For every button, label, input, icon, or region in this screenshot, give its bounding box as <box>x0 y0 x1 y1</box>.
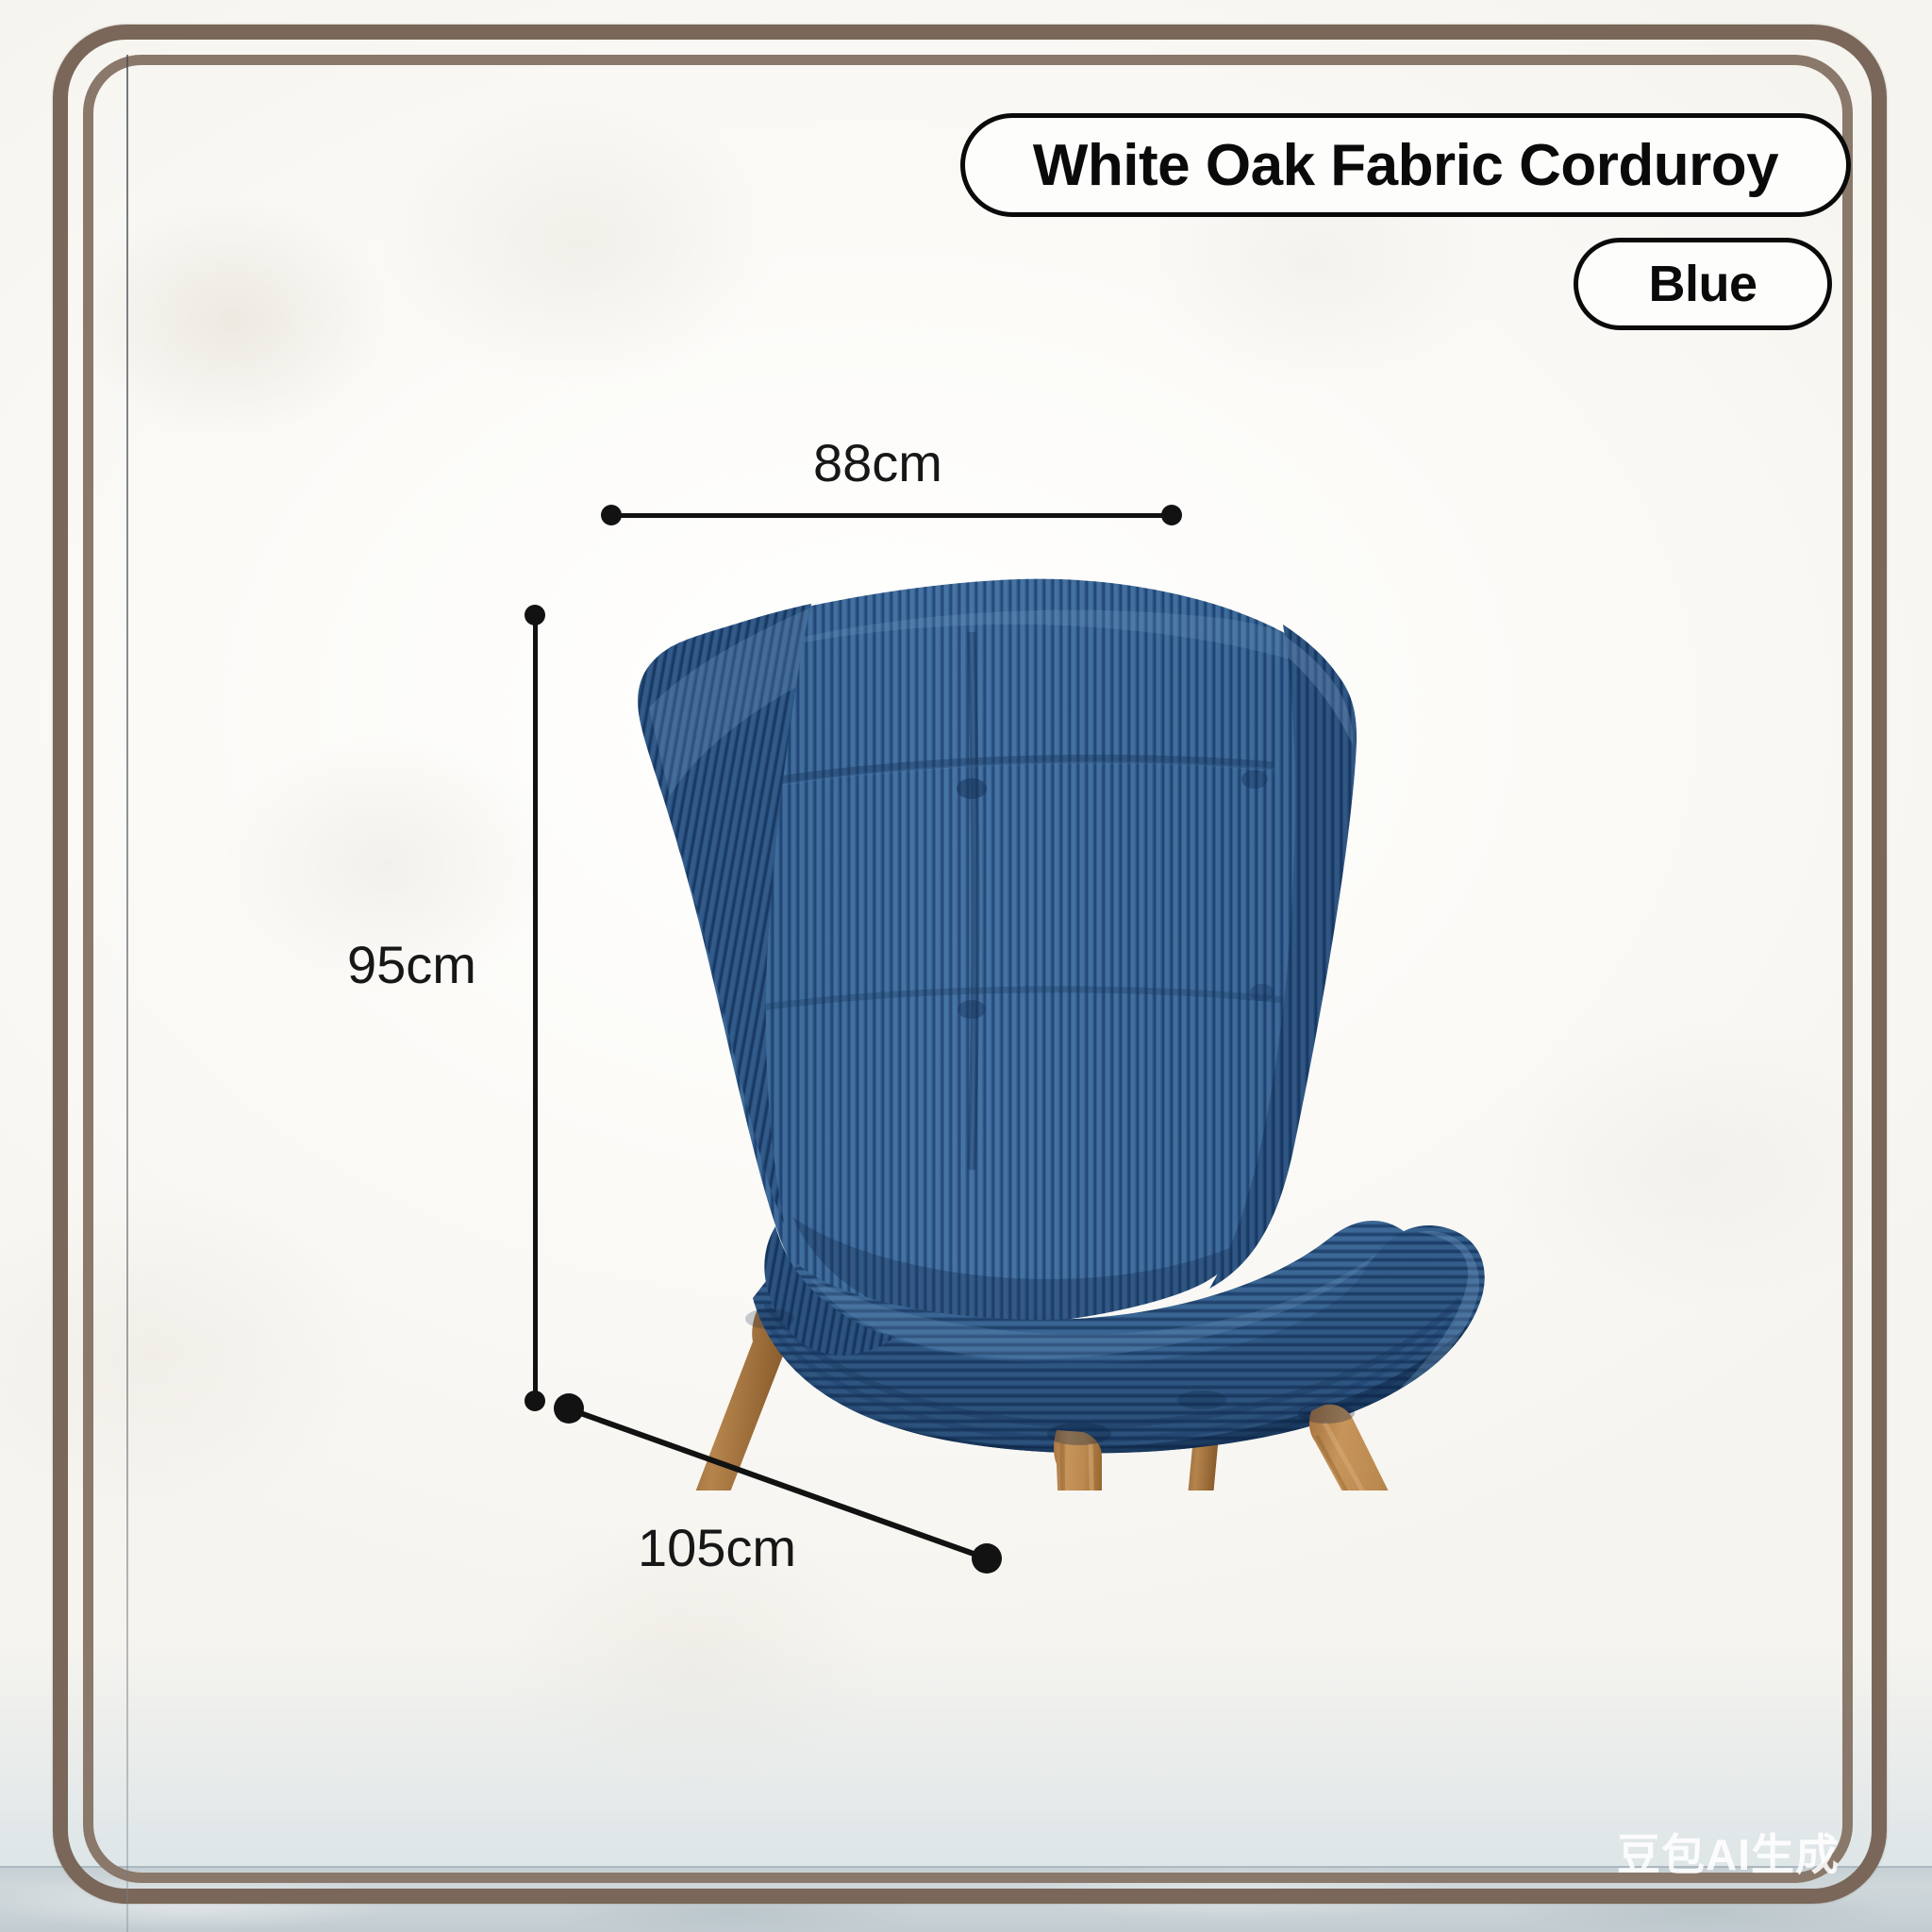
frame-panel-seam <box>126 55 128 1932</box>
dimension-endpoint-width-left <box>601 505 622 525</box>
dimension-endpoint-height-bottom <box>525 1391 545 1411</box>
product-chair-image <box>528 566 1585 1491</box>
dimension-label-height: 95cm <box>347 934 476 995</box>
dimension-label-depth: 105cm <box>638 1517 796 1578</box>
dimension-label-width: 88cm <box>813 432 942 493</box>
dimension-endpoint-height-top <box>525 605 545 625</box>
color-variant-badge: Blue <box>1574 238 1832 330</box>
dimension-line-width <box>611 513 1172 518</box>
dimension-line-height <box>533 615 538 1400</box>
chair-illustration <box>528 566 1585 1491</box>
dimension-endpoint-width-right <box>1161 505 1182 525</box>
product-title-badge: White Oak Fabric Corduroy <box>960 113 1851 217</box>
ai-watermark: 豆包AI生成 <box>1617 1821 1840 1883</box>
product-dimension-infographic: 88cm 95cm 105cm White Oak Fabric Corduro… <box>0 0 1932 1932</box>
